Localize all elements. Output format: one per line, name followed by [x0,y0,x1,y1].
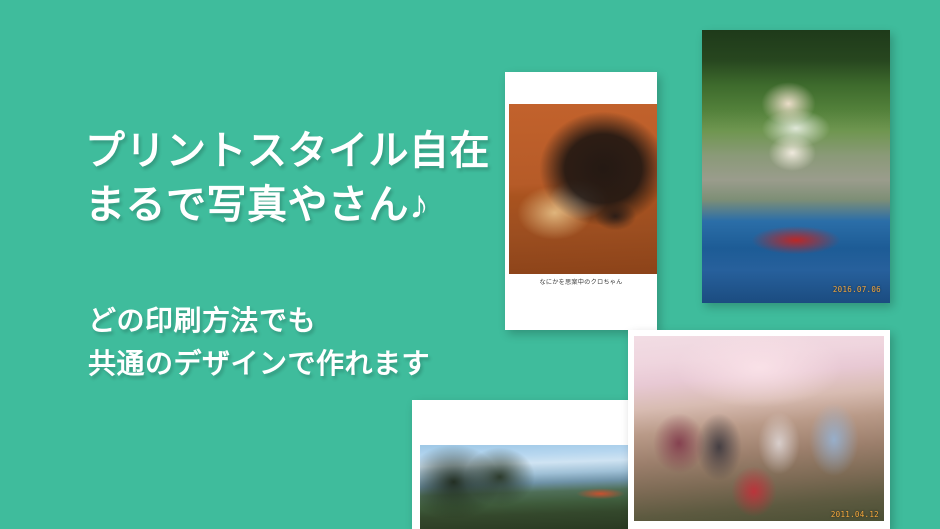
dog-photo-caption: なにかを思案中のクロちゃん [505,280,657,286]
headline-line-2: まるで写真やさん♪ [85,178,490,232]
subheadline-line-2: 共通のデザインで作れます [88,343,430,386]
photo-card-landscape [412,400,630,529]
dog-photo-image [509,104,657,274]
subheadline: どの印刷方法でも 共通のデザインで作れます [88,300,430,385]
headline-line-1: プリントスタイル自在 [85,124,490,178]
photo-card-swing: 2016.07.06 [702,30,890,303]
photo-card-dog: なにかを思案中のクロちゃん [505,72,657,330]
subheadline-line-1: どの印刷方法でも [88,300,430,343]
group-photo-datestamp: 2011.04.12 [831,510,879,519]
swing-photo-datestamp: 2016.07.06 [833,285,881,294]
slide-canvas: プリントスタイル自在 まるで写真やさん♪ どの印刷方法でも 共通のデザインで作れ… [0,0,940,529]
group-photo-image [634,336,884,521]
photo-card-group: 2011.04.12 [628,330,890,529]
headline: プリントスタイル自在 まるで写真やさん♪ [85,124,490,233]
landscape-photo-image [420,445,630,529]
swing-photo-image [702,30,890,303]
